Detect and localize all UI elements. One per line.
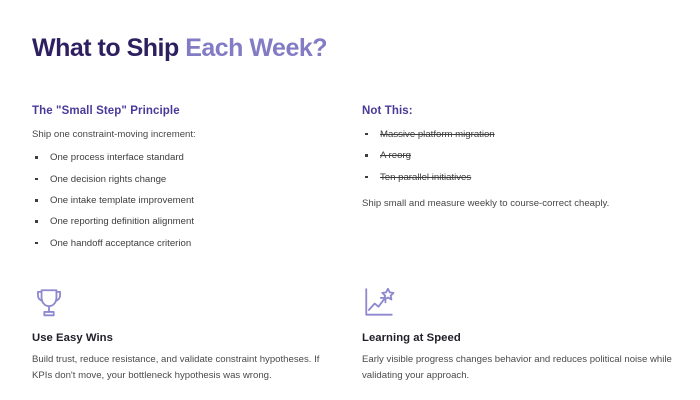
list-item-label: One process interface standard [50,152,184,163]
not-this-heading: Not This: [362,105,682,117]
small-step-principle-heading: The "Small Step" Principle [32,105,362,117]
not-this-column: Not This: Massive platform migration A r… [362,105,682,258]
feature-body: Early visible progress changes behavior … [362,352,672,383]
two-column-section: The "Small Step" Principle Ship one cons… [32,105,670,258]
not-this-list: Massive platform migration A reorg Ten p… [362,128,682,185]
chart-star-icon [362,286,396,320]
feature-row: Use Easy Wins Build trust, reduce resist… [32,286,670,383]
list-item: One handoff acceptance criterion [46,237,362,251]
small-step-principle-column: The "Small Step" Principle Ship one cons… [32,105,362,258]
list-item-label: One intake template improvement [50,195,194,206]
list-item: One reporting definition alignment [46,215,362,229]
trophy-icon [32,286,66,320]
list-item-label: Ten parallel initiatives [380,172,471,183]
feature-use-easy-wins: Use Easy Wins Build trust, reduce resist… [32,286,362,383]
not-this-note: Ship small and measure weekly to course-… [362,197,682,211]
small-step-principle-list: One process interface standard One decis… [32,151,362,251]
list-item-label: One decision rights change [50,174,166,185]
page-title-main: What to Ship [32,34,185,62]
list-item-label: One handoff acceptance criterion [50,238,191,249]
feature-body: Build trust, reduce resistance, and vali… [32,352,342,383]
list-item: One decision rights change [46,173,362,187]
slide-root: What to Ship Each Week? The "Small Step"… [0,0,700,400]
list-item-label: Massive platform migration [380,129,495,140]
list-item: One process interface standard [46,151,362,165]
list-item-label: A reorg [380,150,411,161]
page-title: What to Ship Each Week? [32,34,670,63]
list-item: Ten parallel initiatives [376,171,682,185]
small-step-principle-lead: Ship one constraint-moving increment: [32,128,362,142]
list-item-label: One reporting definition alignment [50,216,194,227]
list-item: A reorg [376,149,682,163]
list-item: Massive platform migration [376,128,682,142]
feature-title: Learning at Speed [362,332,692,344]
list-item: One intake template improvement [46,194,362,208]
feature-title: Use Easy Wins [32,332,362,344]
feature-learning-at-speed: Learning at Speed Early visible progress… [362,286,692,383]
page-title-accent: Each Week? [185,34,327,62]
